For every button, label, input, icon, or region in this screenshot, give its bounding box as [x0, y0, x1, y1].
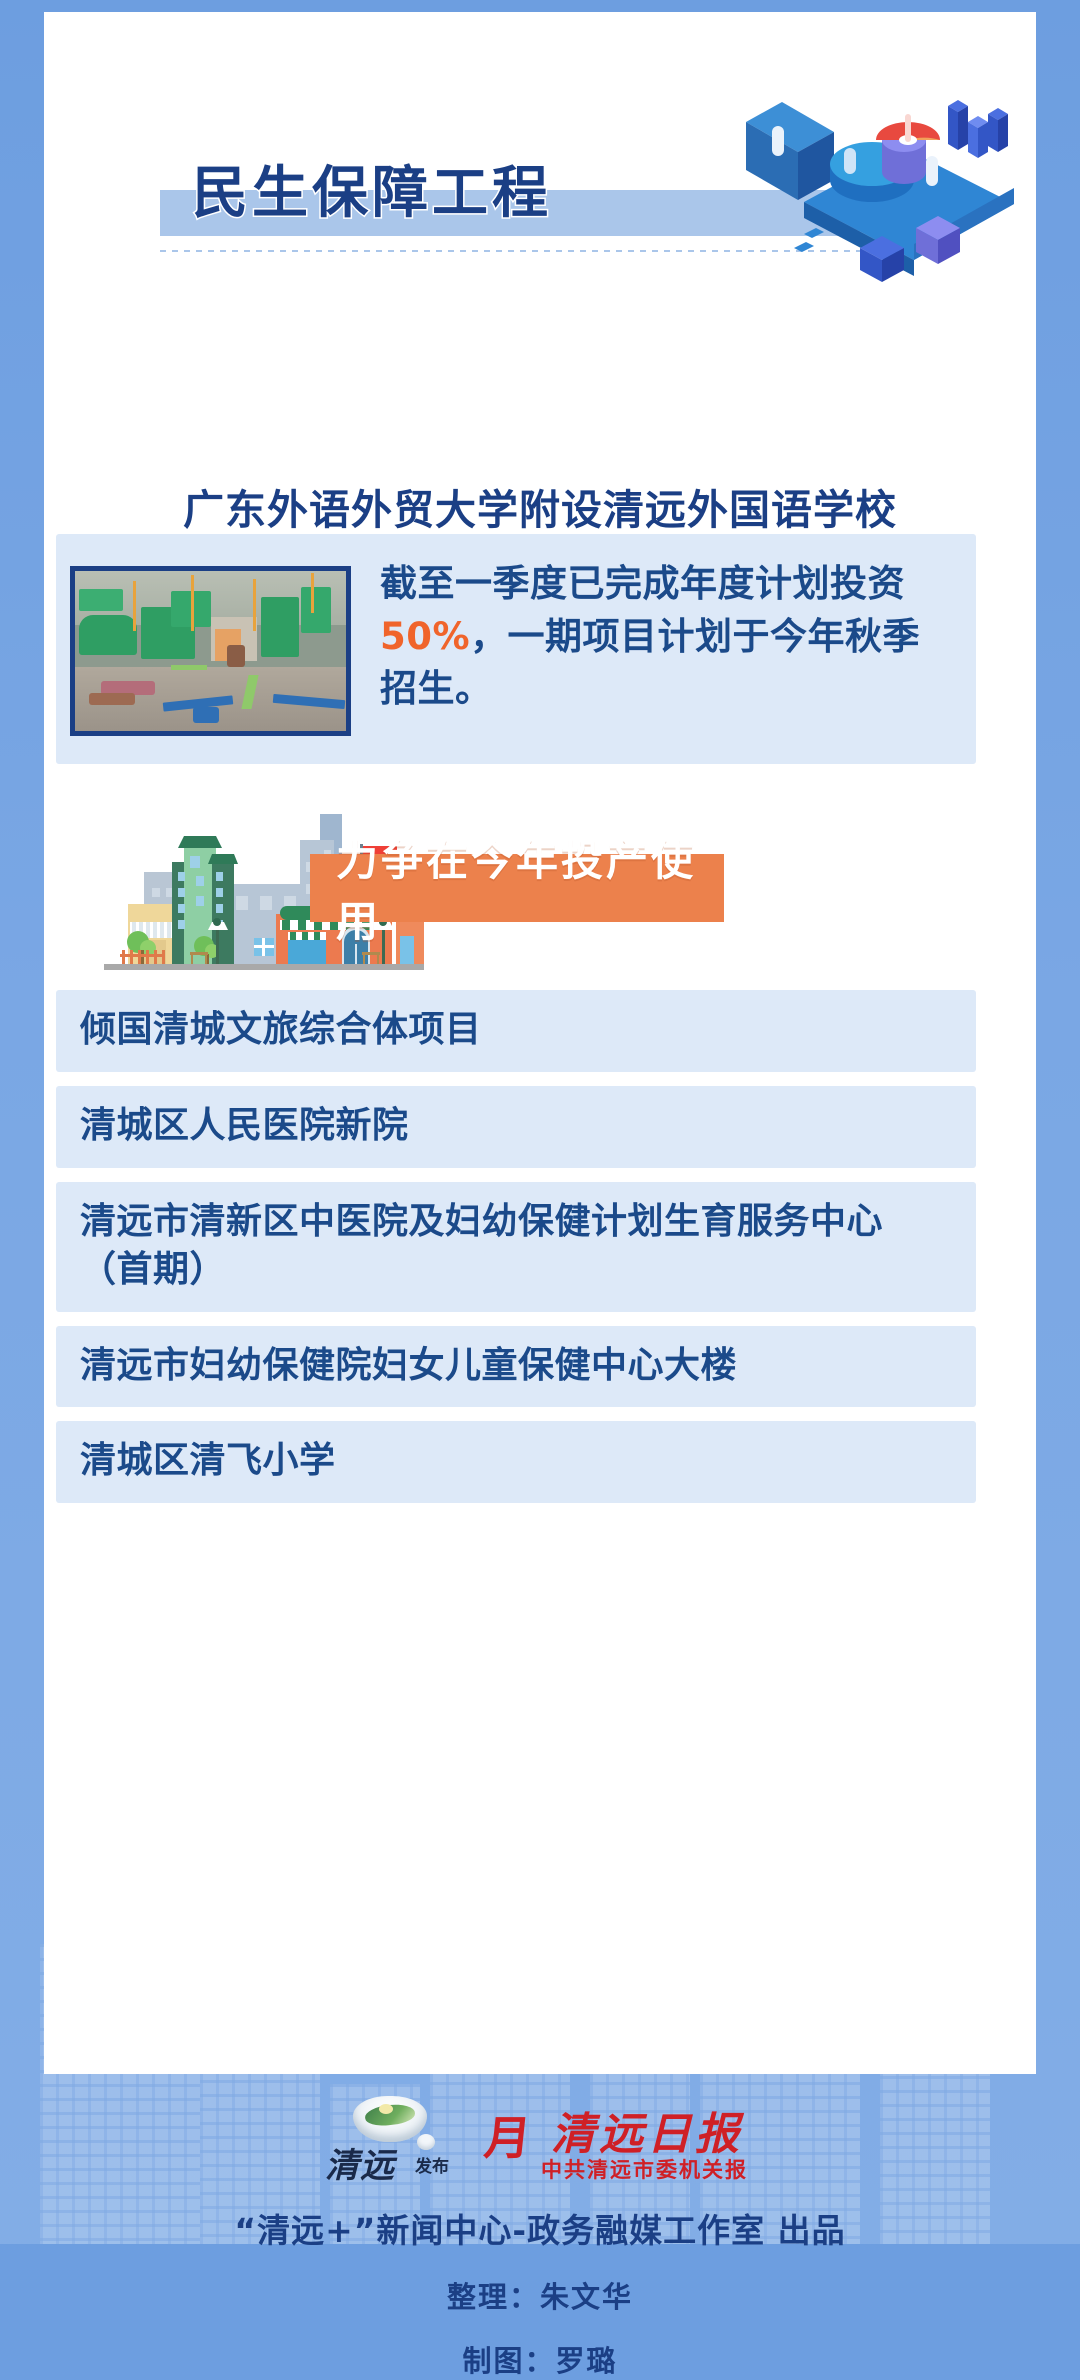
qingyuan-logo-sub: 发布	[415, 2152, 449, 2177]
school-info-panel: 截至一季度已完成年度计划投资50%，一期项目计划于今年秋季招生。	[56, 534, 976, 764]
content-card: 民生保障工程	[44, 12, 1036, 2074]
qingyuan-logo-word: 清远	[325, 2138, 395, 2187]
list-item[interactable]: 清城区清飞小学	[56, 1421, 976, 1503]
list-item[interactable]: 清远市妇幼保健院妇女儿童保健中心大楼	[56, 1326, 976, 1408]
credit-designer: 制图：罗璐	[0, 2338, 1080, 2380]
list-item[interactable]: 倾国清城文旅综合体项目	[56, 990, 976, 1072]
bowl-icon	[353, 2096, 427, 2142]
credit-producer: “清远+”新闻中心-政务融媒工作室 出品	[0, 2204, 1080, 2252]
school-heading: 广东外语外贸大学附设清远外国语学校	[44, 476, 1036, 536]
paper-subtitle: 中共清远市委机关报	[541, 2154, 748, 2184]
qingyuan-release-logo: 清远 发布	[319, 2094, 459, 2186]
qingyuan-daily-logo: 月 清远日报 中共清远市委机关报	[485, 2094, 761, 2186]
list-item[interactable]: 清城区人民医院新院	[56, 1086, 976, 1168]
paper-mark-icon: 月	[482, 2102, 535, 2168]
project-list: 倾国清城文旅综合体项目 清城区人民医院新院 清远市清新区中医院及妇幼保健计划生育…	[56, 990, 976, 1517]
school-description: 截至一季度已完成年度计划投资50%，一期项目计划于今年秋季招生。	[380, 558, 956, 716]
header: 民生保障工程	[44, 12, 1036, 312]
list-item[interactable]: 清远市清新区中医院及妇幼保健计划生育服务中心（首期）	[56, 1182, 976, 1312]
footer: 清远 发布 月 清远日报 中共清远市委机关报 “清远+”新闻中心-政务融媒工作室…	[0, 2090, 1080, 2380]
isometric-data-city-icon	[654, 52, 1014, 282]
banner-zone: 力争在今年投产使用	[44, 802, 1036, 982]
production-banner: 力争在今年投产使用	[310, 854, 724, 922]
construction-photo	[70, 566, 351, 736]
bowl-dot-icon	[417, 2134, 435, 2150]
production-banner-label: 力争在今年投产使用	[336, 827, 724, 949]
school-description-prefix: 截至一季度已完成年度计划投资	[380, 562, 905, 605]
credit-editor: 整理：朱文华	[0, 2274, 1080, 2316]
page-title: 民生保障工程	[192, 148, 552, 229]
paper-name: 清远日报	[551, 2098, 743, 2162]
investment-percent: 50%	[380, 615, 470, 658]
footer-logos: 清远 发布 月 清远日报 中共清远市委机关报	[0, 2090, 1080, 2186]
